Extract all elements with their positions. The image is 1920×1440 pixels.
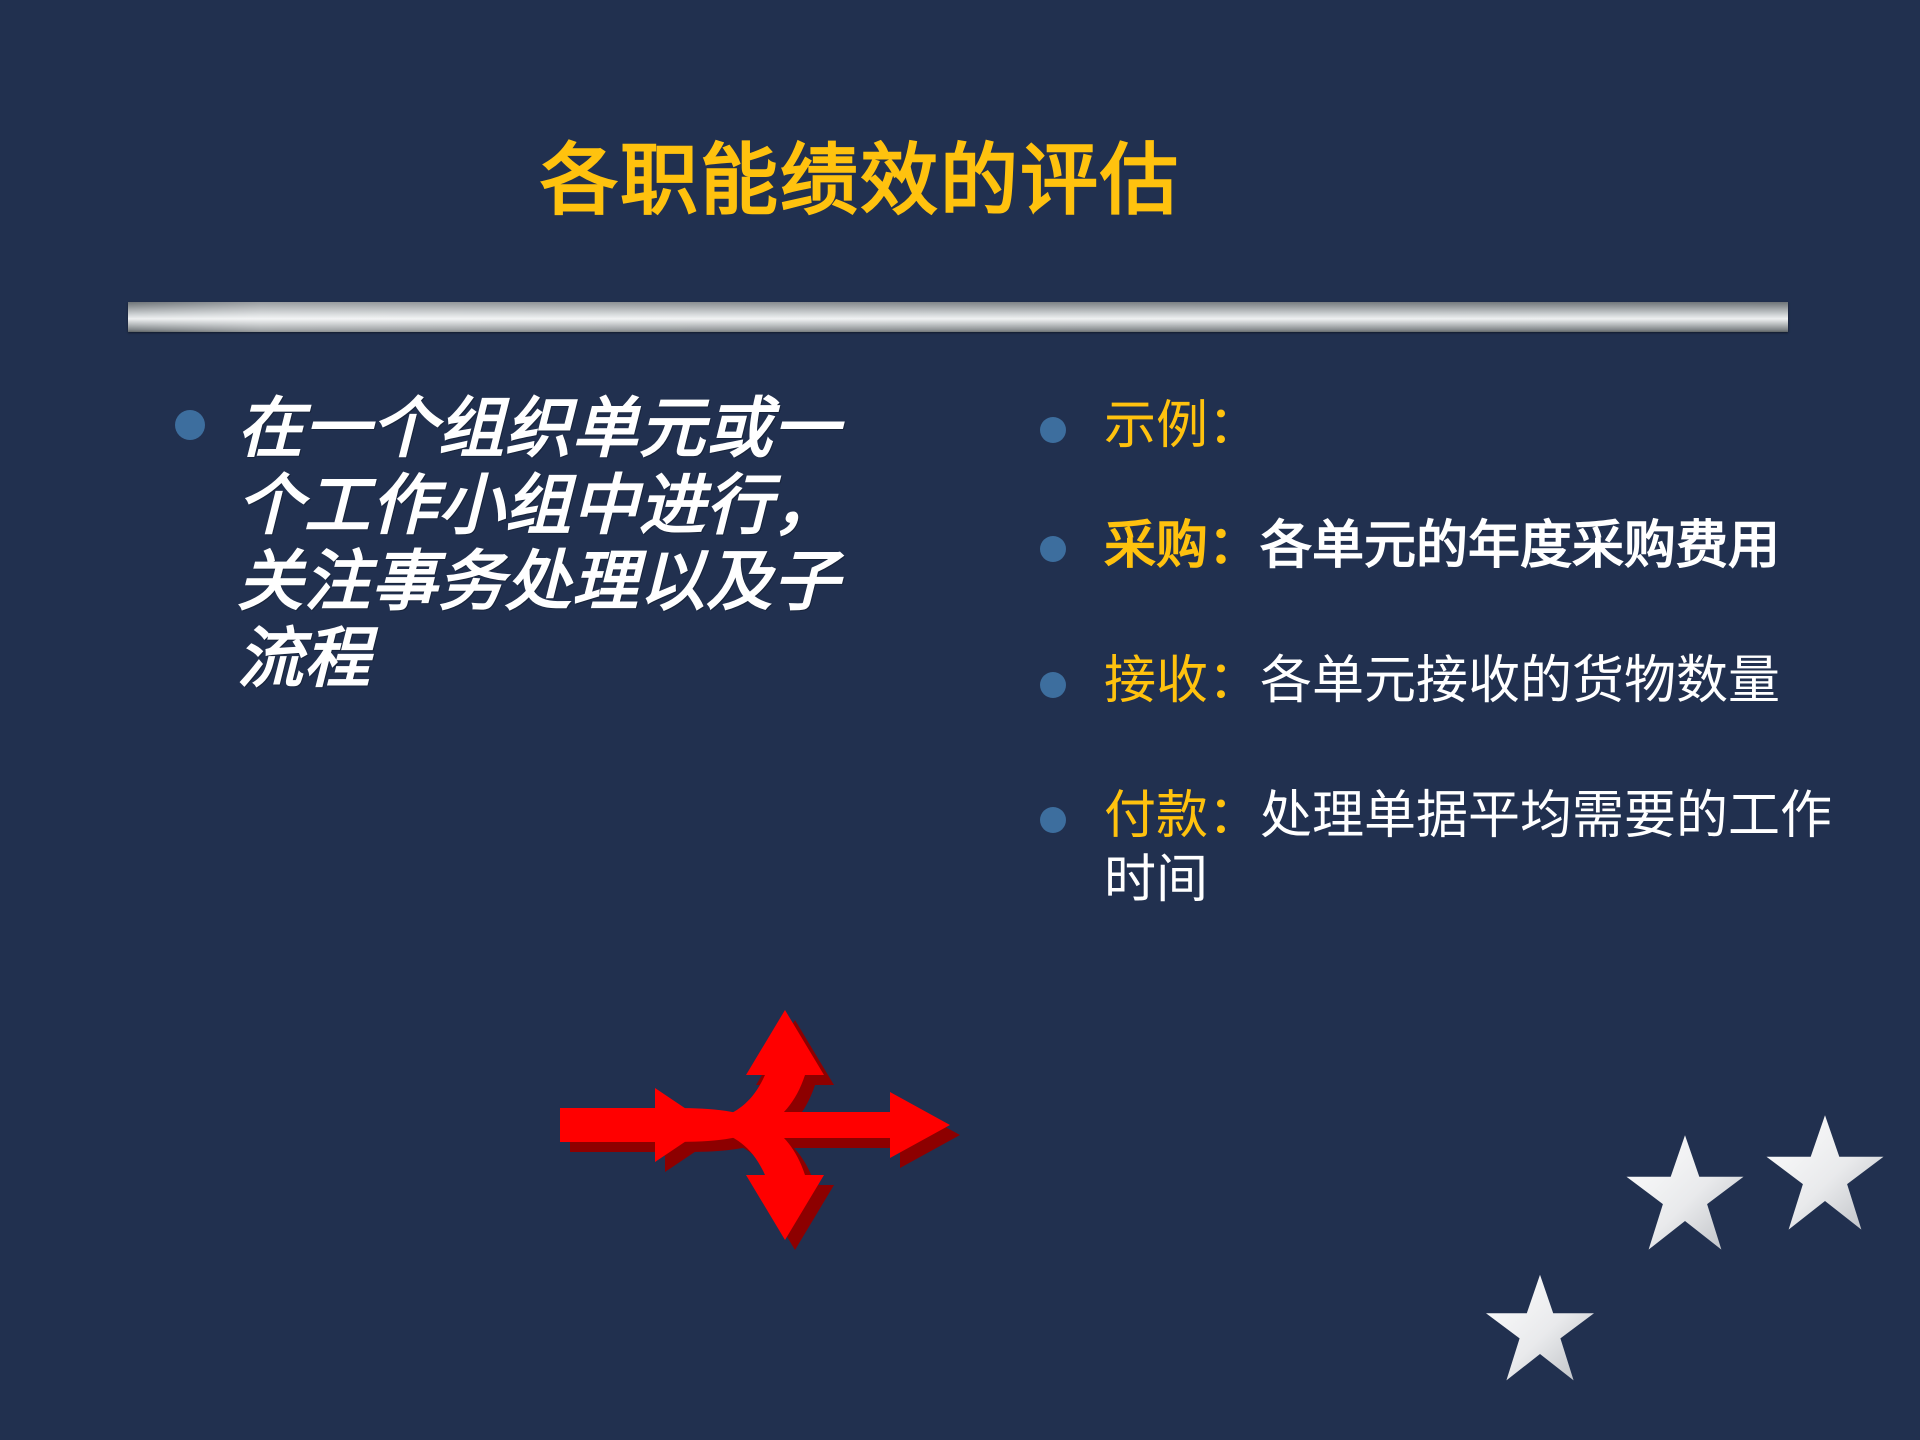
payment-label: 付款： [1104, 786, 1260, 846]
left-bullet-text: 在一个组织单元或一个工作小组中进行，关注事务处理以及子流程 [237, 390, 845, 696]
list-item: 示例： [1040, 395, 1870, 458]
list-item: 接收：各单元接收的货物数量 [1040, 650, 1870, 713]
list-item: 采购：各单元的年度采购费用 [1040, 514, 1870, 577]
bullet-dot-icon [175, 410, 205, 440]
title-divider-bar [128, 302, 1788, 332]
bullet-dot-icon [1040, 536, 1066, 562]
page-title: 各职能绩效的评估 [0, 140, 1920, 222]
star-icon [1760, 1110, 1890, 1240]
left-content-column: 在一个组织单元或一个工作小组中进行，关注事务处理以及子流程 [175, 390, 845, 696]
purchasing-label: 采购： [1104, 515, 1260, 576]
receiving-text: 各单元接收的货物数量 [1260, 651, 1780, 711]
right-content-column: 示例： 采购：各单元的年度采购费用 接收：各单元接收的货物数量 付款：处理单据平… [1040, 385, 1870, 912]
example-label: 示例： [1104, 396, 1260, 456]
star-icon [1480, 1270, 1600, 1390]
star-icon [1620, 1130, 1750, 1260]
slide-canvas: 各职能绩效的评估 在一个组织单元或一个工作小组中进行，关注事务处理以及子流程 示… [0, 0, 1920, 1440]
bullet-dot-icon [1040, 417, 1066, 443]
receiving-label: 接收： [1104, 651, 1260, 711]
list-item: 在一个组织单元或一个工作小组中进行，关注事务处理以及子流程 [175, 390, 845, 696]
purchasing-text: 各单元的年度采购费用 [1260, 515, 1780, 576]
bullet-dot-icon [1040, 672, 1066, 698]
list-item: 付款：处理单据平均需要的工作时间 [1040, 785, 1870, 912]
red-split-double-arrow-icon [560, 1000, 1030, 1250]
bullet-dot-icon [1040, 807, 1066, 833]
